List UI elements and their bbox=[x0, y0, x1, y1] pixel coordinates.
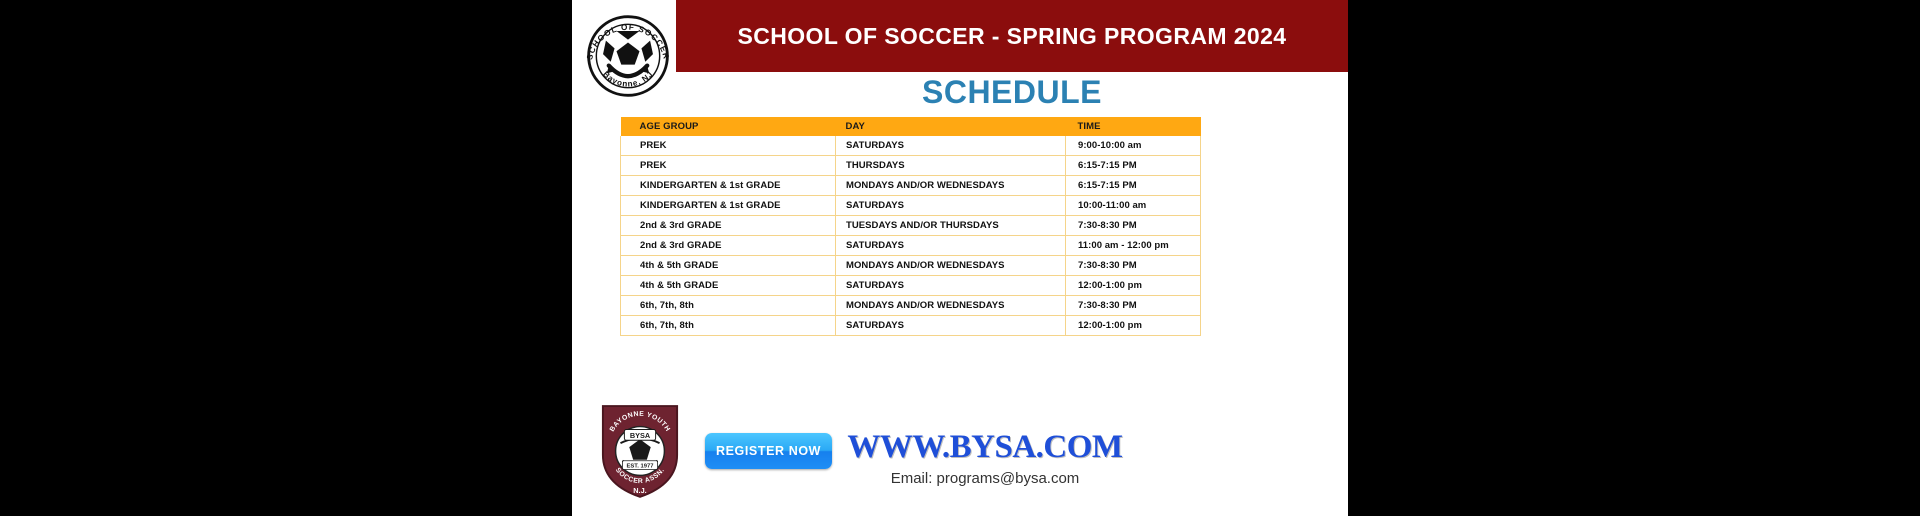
bysa-established-text: EST. 1977 bbox=[627, 464, 654, 470]
header-title-banner: SCHOOL OF SOCCER - SPRING PROGRAM 2024 bbox=[676, 0, 1348, 72]
cell-time: 7:30-8:30 PM bbox=[1066, 296, 1201, 316]
column-header-time: TIME bbox=[1066, 117, 1201, 136]
website-url[interactable]: WWW.BYSA.COM bbox=[840, 429, 1130, 466]
cell-time: 11:00 am - 12:00 pm bbox=[1066, 236, 1201, 256]
footer-section: BYSA EST. 1977 BAYONNE YOUTH SOCCER ASSN… bbox=[572, 396, 1348, 516]
cell-day: SATURDAYS bbox=[836, 136, 1066, 156]
table-row: PREK THURSDAYS 6:15-7:15 PM bbox=[621, 156, 1201, 176]
cell-day: SATURDAYS bbox=[836, 196, 1066, 216]
table-row: KINDERGARTEN & 1st GRADE MONDAYS AND/OR … bbox=[621, 176, 1201, 196]
cell-day: MONDAYS AND/OR WEDNESDAYS bbox=[836, 176, 1066, 196]
cell-day: SATURDAYS bbox=[836, 236, 1066, 256]
table-row: 6th, 7th, 8th SATURDAYS 12:00-1:00 pm bbox=[621, 316, 1201, 336]
cell-time: 10:00-11:00 am bbox=[1066, 196, 1201, 216]
school-of-soccer-logo: SCHOOL OF SOCCER Bayonne, NJ bbox=[580, 6, 676, 106]
table-row: 4th & 5th GRADE MONDAYS AND/OR WEDNESDAY… bbox=[621, 256, 1201, 276]
cell-time: 9:00-10:00 am bbox=[1066, 136, 1201, 156]
cell-time: 12:00-1:00 pm bbox=[1066, 276, 1201, 296]
cell-age-group: PREK bbox=[621, 136, 836, 156]
cell-day: MONDAYS AND/OR WEDNESDAYS bbox=[836, 296, 1066, 316]
register-now-button[interactable]: REGISTER NOW bbox=[705, 433, 832, 469]
cell-day: TUESDAYS AND/OR THURSDAYS bbox=[836, 216, 1066, 236]
cell-day: SATURDAYS bbox=[836, 276, 1066, 296]
schedule-table: AGE GROUP DAY TIME PREK SATURDAYS 9:00-1… bbox=[620, 117, 1201, 336]
cell-age-group: 2nd & 3rd GRADE bbox=[621, 216, 836, 236]
table-header-row: AGE GROUP DAY TIME bbox=[621, 117, 1201, 136]
header-band: SCHOOL OF SOCCER - SPRING PROGRAM 2024 bbox=[572, 0, 1348, 72]
cell-time: 12:00-1:00 pm bbox=[1066, 316, 1201, 336]
cell-day: SATURDAYS bbox=[836, 316, 1066, 336]
cell-day: THURSDAYS bbox=[836, 156, 1066, 176]
table-row: 2nd & 3rd GRADE SATURDAYS 11:00 am - 12:… bbox=[621, 236, 1201, 256]
column-header-day: DAY bbox=[836, 117, 1066, 136]
cell-time: 6:15-7:15 PM bbox=[1066, 156, 1201, 176]
cell-time: 7:30-8:30 PM bbox=[1066, 216, 1201, 236]
cell-age-group: 6th, 7th, 8th bbox=[621, 316, 836, 336]
cell-time: 6:15-7:15 PM bbox=[1066, 176, 1201, 196]
column-header-age-group: AGE GROUP bbox=[621, 117, 836, 136]
cell-age-group: 4th & 5th GRADE bbox=[621, 256, 836, 276]
table-row: 4th & 5th GRADE SATURDAYS 12:00-1:00 pm bbox=[621, 276, 1201, 296]
cell-age-group: 4th & 5th GRADE bbox=[621, 276, 836, 296]
table-row: KINDERGARTEN & 1st GRADE SATURDAYS 10:00… bbox=[621, 196, 1201, 216]
contact-email: Email: programs@bysa.com bbox=[840, 470, 1130, 487]
table-row: PREK SATURDAYS 9:00-10:00 am bbox=[621, 136, 1201, 156]
bysa-center-text: BYSA bbox=[630, 431, 651, 440]
cell-age-group: 6th, 7th, 8th bbox=[621, 296, 836, 316]
cell-age-group: 2nd & 3rd GRADE bbox=[621, 236, 836, 256]
cell-day: MONDAYS AND/OR WEDNESDAYS bbox=[836, 256, 1066, 276]
flyer-content-area: SCHOOL OF SOCCER - SPRING PROGRAM 2024 bbox=[572, 0, 1348, 516]
cell-age-group: PREK bbox=[621, 156, 836, 176]
table-row: 6th, 7th, 8th MONDAYS AND/OR WEDNESDAYS … bbox=[621, 296, 1201, 316]
bysa-state-text: N.J. bbox=[633, 486, 646, 495]
cell-time: 7:30-8:30 PM bbox=[1066, 256, 1201, 276]
schedule-table-container: AGE GROUP DAY TIME PREK SATURDAYS 9:00-1… bbox=[620, 117, 1140, 336]
screenshot-canvas: SCHOOL OF SOCCER - SPRING PROGRAM 2024 bbox=[0, 0, 1920, 516]
schedule-table-body: PREK SATURDAYS 9:00-10:00 am PREK THURSD… bbox=[621, 136, 1201, 336]
schedule-heading: SCHEDULE bbox=[676, 74, 1348, 111]
cell-age-group: KINDERGARTEN & 1st GRADE bbox=[621, 176, 836, 196]
page-title: SCHOOL OF SOCCER - SPRING PROGRAM 2024 bbox=[738, 23, 1287, 50]
table-row: 2nd & 3rd GRADE TUESDAYS AND/OR THURSDAY… bbox=[621, 216, 1201, 236]
bysa-logo: BYSA EST. 1977 BAYONNE YOUTH SOCCER ASSN… bbox=[599, 400, 681, 500]
cell-age-group: KINDERGARTEN & 1st GRADE bbox=[621, 196, 836, 216]
